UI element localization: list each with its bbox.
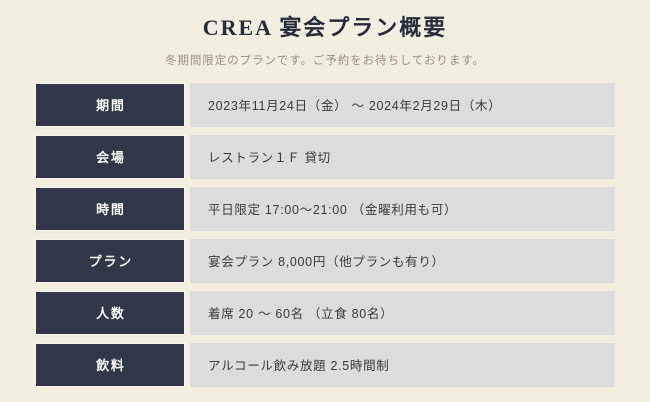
spec-value-time: 平日限定 17:00～21:00 （金曜利用も可）: [190, 187, 615, 231]
spec-value-capacity: 着席 20 ～ 60名 （立食 80名）: [190, 291, 615, 335]
spec-value-venue: レストラン１Ｆ 貸切: [190, 135, 615, 179]
spec-label-venue: 会場: [35, 135, 185, 179]
table-row: 飲料 アルコール飲み放題 2.5時間制: [35, 343, 615, 387]
spec-label-period: 期間: [35, 83, 185, 127]
spec-table: 期間 2023年11月24日（金） ～ 2024年2月29日（木） 会場 レスト…: [35, 83, 615, 387]
spec-label-plan: プラン: [35, 239, 185, 283]
table-row: プラン 宴会プラン 8,000円（他プランも有り）: [35, 239, 615, 283]
spec-value-period: 2023年11月24日（金） ～ 2024年2月29日（木）: [190, 83, 615, 127]
table-row: 時間 平日限定 17:00～21:00 （金曜利用も可）: [35, 187, 615, 231]
table-row: 会場 レストラン１Ｆ 貸切: [35, 135, 615, 179]
spec-label-beverage: 飲料: [35, 343, 185, 387]
table-row: 人数 着席 20 ～ 60名 （立食 80名）: [35, 291, 615, 335]
page-header: CREA 宴会プラン概要 冬期間限定のプランです。ご予約をお待ちしております。: [0, 0, 650, 69]
spec-value-beverage: アルコール飲み放題 2.5時間制: [190, 343, 615, 387]
spec-label-capacity: 人数: [35, 291, 185, 335]
spec-label-time: 時間: [35, 187, 185, 231]
page-subtitle: 冬期間限定のプランです。ご予約をお待ちしております。: [0, 53, 650, 69]
spec-value-plan: 宴会プラン 8,000円（他プランも有り）: [190, 239, 615, 283]
table-row: 期間 2023年11月24日（金） ～ 2024年2月29日（木）: [35, 83, 615, 127]
page-title: CREA 宴会プラン概要: [0, 14, 650, 43]
banquet-plan-overview-page: CREA 宴会プラン概要 冬期間限定のプランです。ご予約をお待ちしております。 …: [0, 0, 650, 402]
